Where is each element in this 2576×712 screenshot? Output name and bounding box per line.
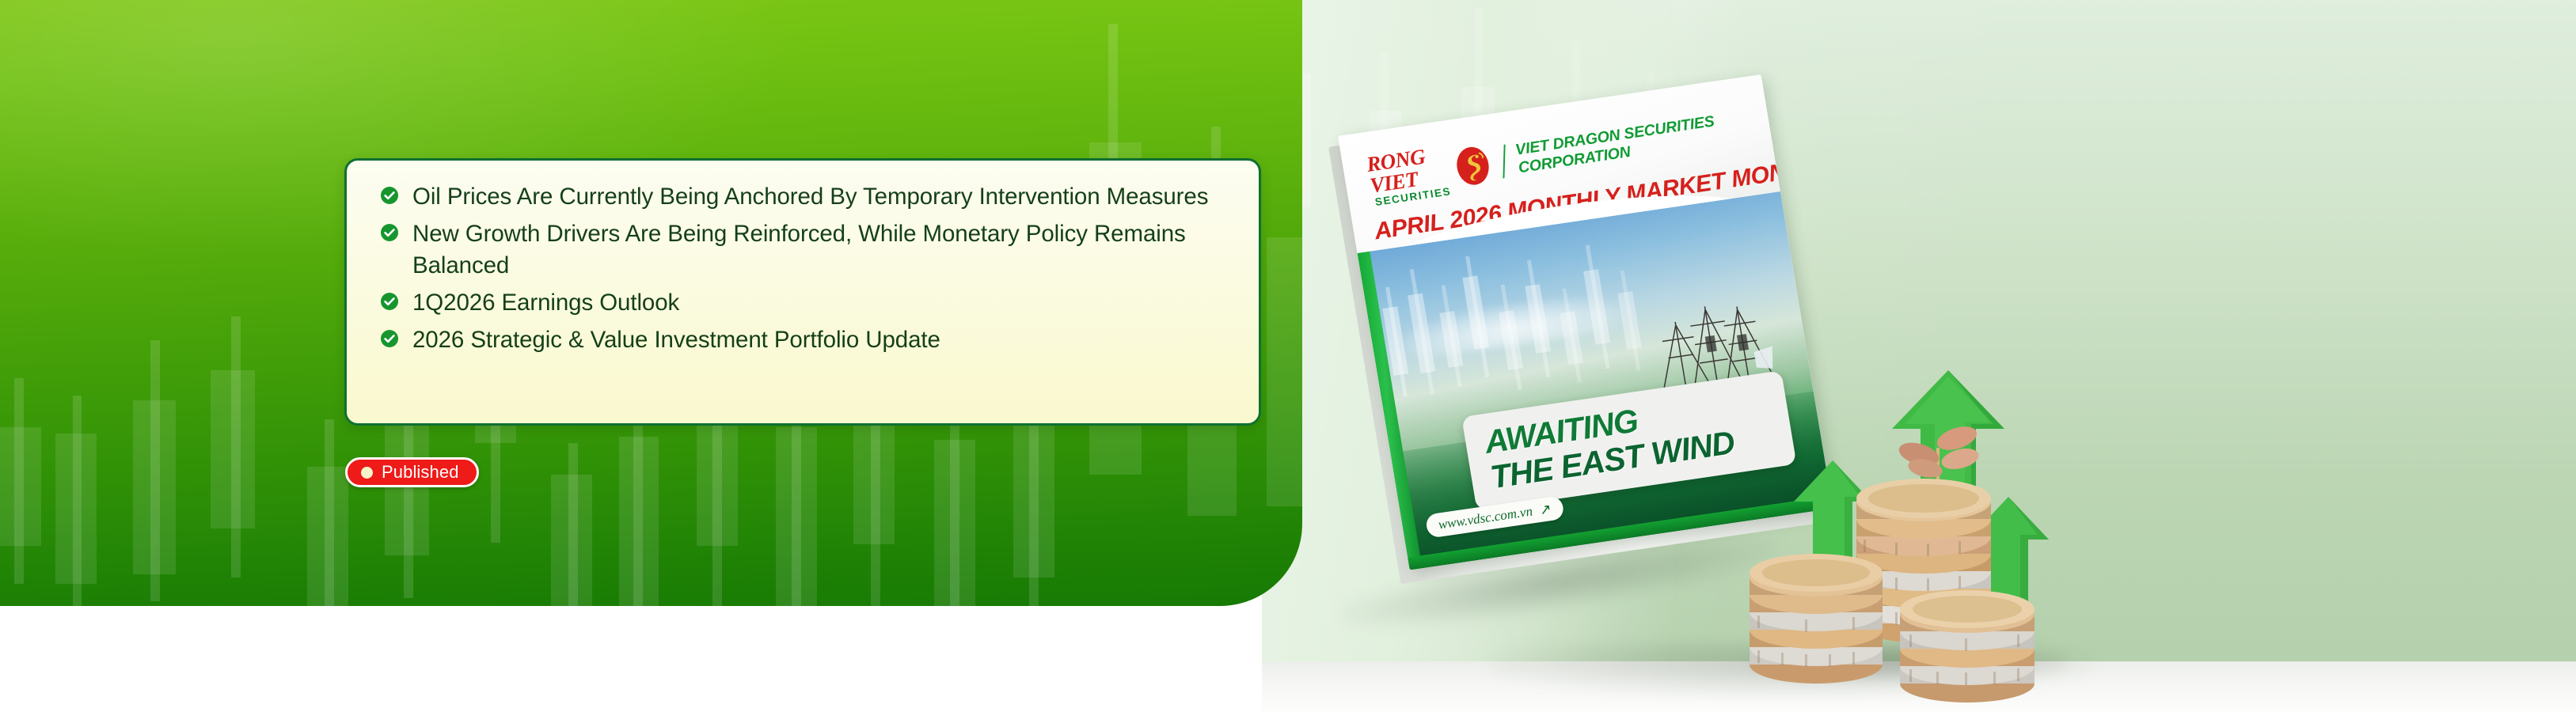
logo-divider bbox=[1503, 145, 1505, 179]
status-badge[interactable]: Published bbox=[345, 457, 479, 487]
highlights-list: Oil Prices Are Currently Being Anchored … bbox=[347, 161, 1259, 357]
coin-stack-left bbox=[1746, 538, 1886, 685]
coin-stack-right bbox=[1897, 576, 2038, 703]
external-link-icon: ↗ bbox=[1538, 502, 1552, 517]
status-dot-icon bbox=[361, 467, 373, 479]
highlight-text: 2026 Strategic & Value Investment Portfo… bbox=[412, 324, 940, 357]
check-circle-icon bbox=[380, 186, 399, 205]
highlight-text: New Growth Drivers Are Being Reinforced,… bbox=[412, 218, 1228, 282]
coins-and-arrows-graphic bbox=[1742, 369, 2074, 701]
dragon-icon bbox=[1451, 144, 1494, 188]
highlights-card: Oil Prices Are Currently Being Anchored … bbox=[344, 158, 1261, 426]
status-badge-label: Published bbox=[382, 462, 459, 483]
highlight-text: Oil Prices Are Currently Being Anchored … bbox=[412, 181, 1208, 214]
check-circle-icon bbox=[380, 329, 399, 348]
list-item: New Growth Drivers Are Being Reinforced,… bbox=[380, 218, 1235, 282]
list-item: 1Q2026 Earnings Outlook bbox=[380, 287, 1235, 320]
check-circle-icon bbox=[380, 292, 399, 311]
list-item: 2026 Strategic & Value Investment Portfo… bbox=[380, 324, 1235, 357]
list-item: Oil Prices Are Currently Being Anchored … bbox=[380, 181, 1235, 214]
highlight-text: 1Q2026 Earnings Outlook bbox=[412, 287, 679, 320]
check-circle-icon bbox=[380, 223, 399, 242]
banner-stage: Oil Prices Are Currently Being Anchored … bbox=[0, 0, 2576, 712]
